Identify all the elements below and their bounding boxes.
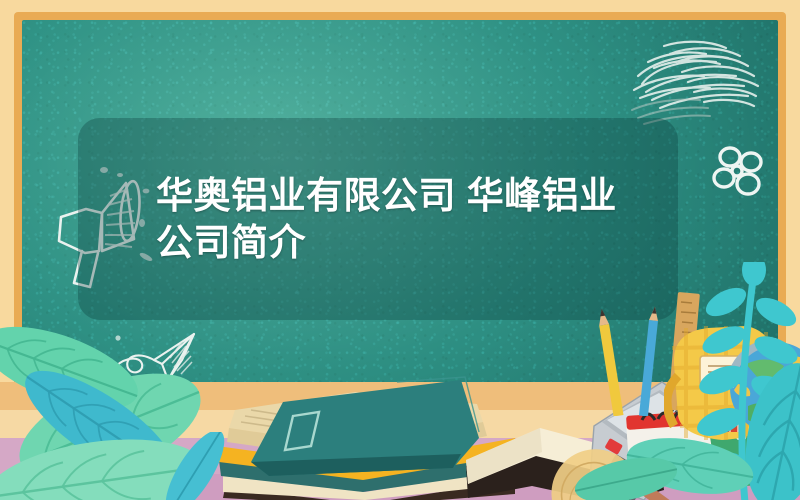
pencils <box>596 306 666 416</box>
page-title: 华奥铝业有限公司 华峰铝业公司简介 <box>156 172 636 266</box>
leaf-small-green-right <box>566 444 686 500</box>
banner-image: 华奥铝业有限公司 华峰铝业公司简介 <box>0 0 800 500</box>
leaf-small-blue <box>140 432 250 500</box>
